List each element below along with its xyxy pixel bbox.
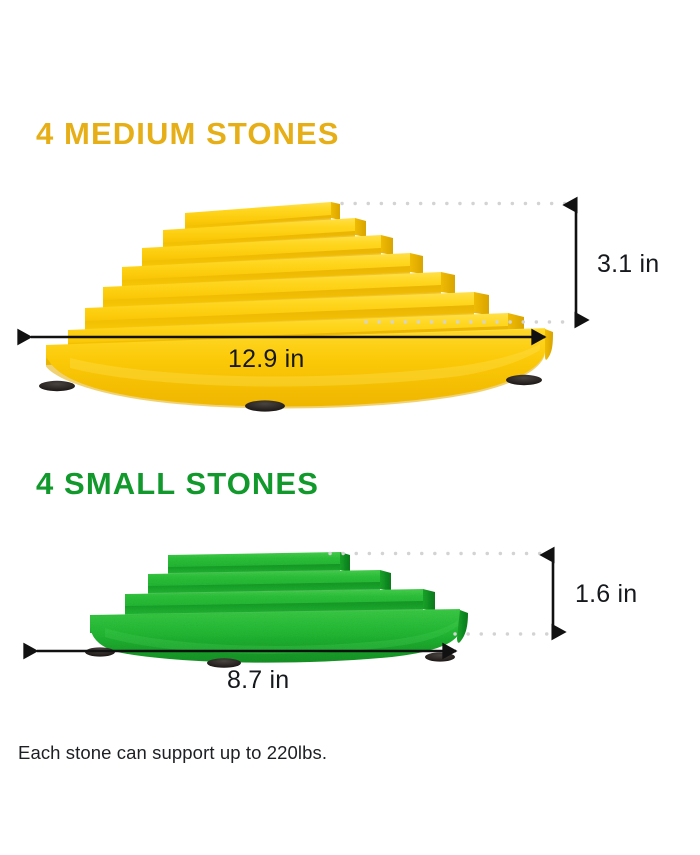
dimension-guides	[0, 0, 700, 855]
support-weight-footnote: Each stone can support up to 220lbs.	[18, 742, 327, 764]
infographic-page: 4 MEDIUM STONES	[0, 0, 700, 855]
